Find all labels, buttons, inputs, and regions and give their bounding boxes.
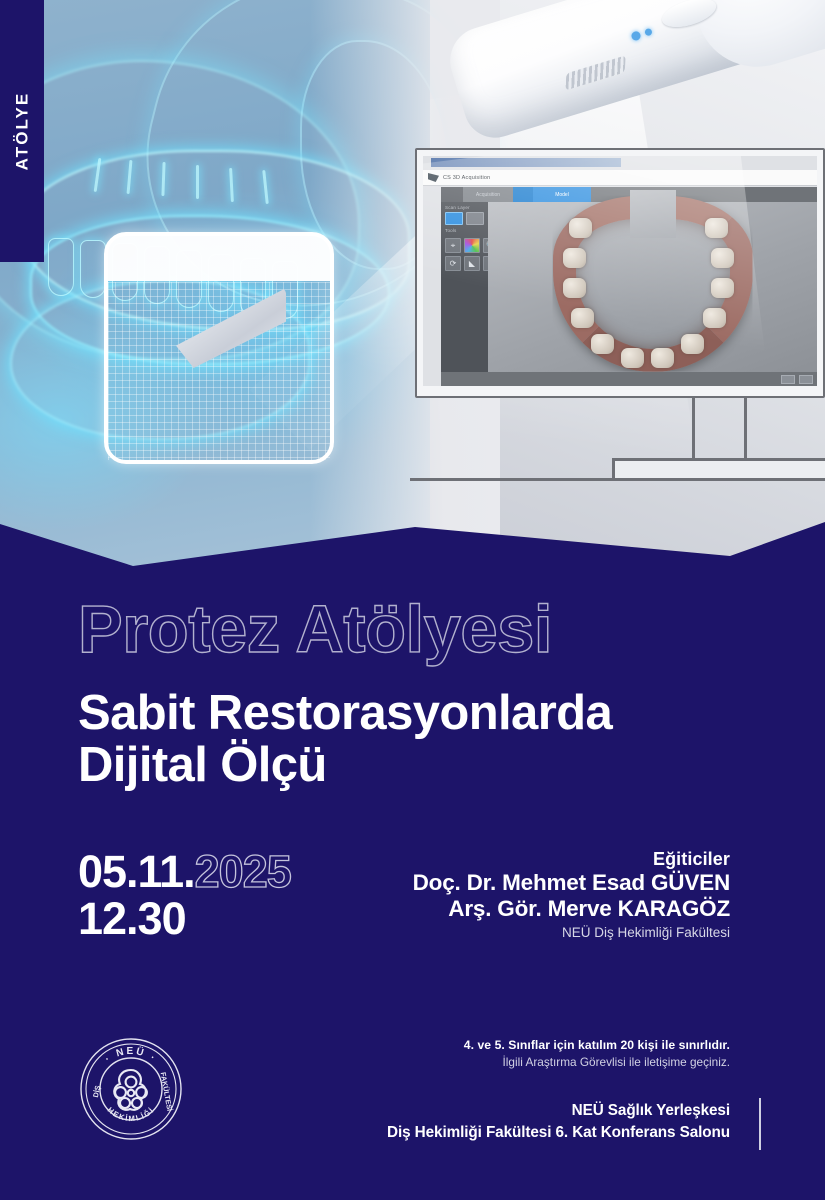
participation-note: 4. ve 5. Sınıflar için katılım 20 kişi i… <box>464 1038 730 1069</box>
svg-text:HEKİMLİĞİ: HEKİMLİĞİ <box>106 1105 157 1123</box>
category-tab: ATÖLYE <box>0 0 44 262</box>
seal-bottom-text: HEKİMLİĞİ <box>106 1105 157 1123</box>
instructor-name-1: Doç. Dr. Mehmet Esad GÜVEN <box>413 870 730 896</box>
event-date: 05.11.2025 <box>78 848 291 896</box>
venue-line-1: NEÜ Sağlık Yerleşkesi <box>387 1100 730 1122</box>
event-time: 12.30 <box>78 893 186 945</box>
kicker-title: Protez Atölyesi <box>78 596 552 663</box>
instructors-heading: Eğiticiler <box>413 849 730 870</box>
instructors-block: Eğiticiler Doç. Dr. Mehmet Esad GÜVEN Ar… <box>413 849 730 940</box>
headline-line-2: Dijital Ölçü <box>78 740 612 792</box>
poster-content: Protez Atölyesi Sabit Restorasyonlarda D… <box>0 0 825 1200</box>
svg-text:· NEÜ ·: · NEÜ · <box>103 1044 159 1065</box>
event-date-day: 05.11. <box>78 846 195 897</box>
note-line-1: 4. ve 5. Sınıflar için katılım 20 kişi i… <box>464 1038 730 1052</box>
event-date-year: 2025 <box>195 846 291 897</box>
venue-block: NEÜ Sağlık Yerleşkesi Diş Hekimliği Fakü… <box>387 1100 730 1143</box>
venue-line-2: Diş Hekimliği Fakültesi 6. Kat Konferans… <box>387 1122 730 1144</box>
instructors-affiliation: NEÜ Diş Hekimliği Fakültesi <box>413 925 730 940</box>
page-title: Sabit Restorasyonlarda Dijital Ölçü <box>78 688 612 792</box>
venue-divider <box>759 1098 761 1150</box>
seal-emblem <box>114 1070 147 1110</box>
poster-root: CS 3D Acquisition Acquisition Model Scan… <box>0 0 825 1200</box>
seal-right-text: FAKÜLTESİ <box>159 1071 175 1111</box>
seal-top-text: · NEÜ · <box>103 1044 159 1065</box>
category-tab-label: ATÖLYE <box>12 92 32 171</box>
headline-line-1: Sabit Restorasyonlarda <box>78 686 612 740</box>
note-line-2: İlgili Araştırma Görevlisi ile iletişime… <box>464 1055 730 1069</box>
instructor-name-2: Arş. Gör. Merve KARAGÖZ <box>413 896 730 922</box>
university-seal-logo: · NEÜ · HEKİMLİĞİ DİŞ FAKÜLTESİ <box>78 1036 184 1142</box>
